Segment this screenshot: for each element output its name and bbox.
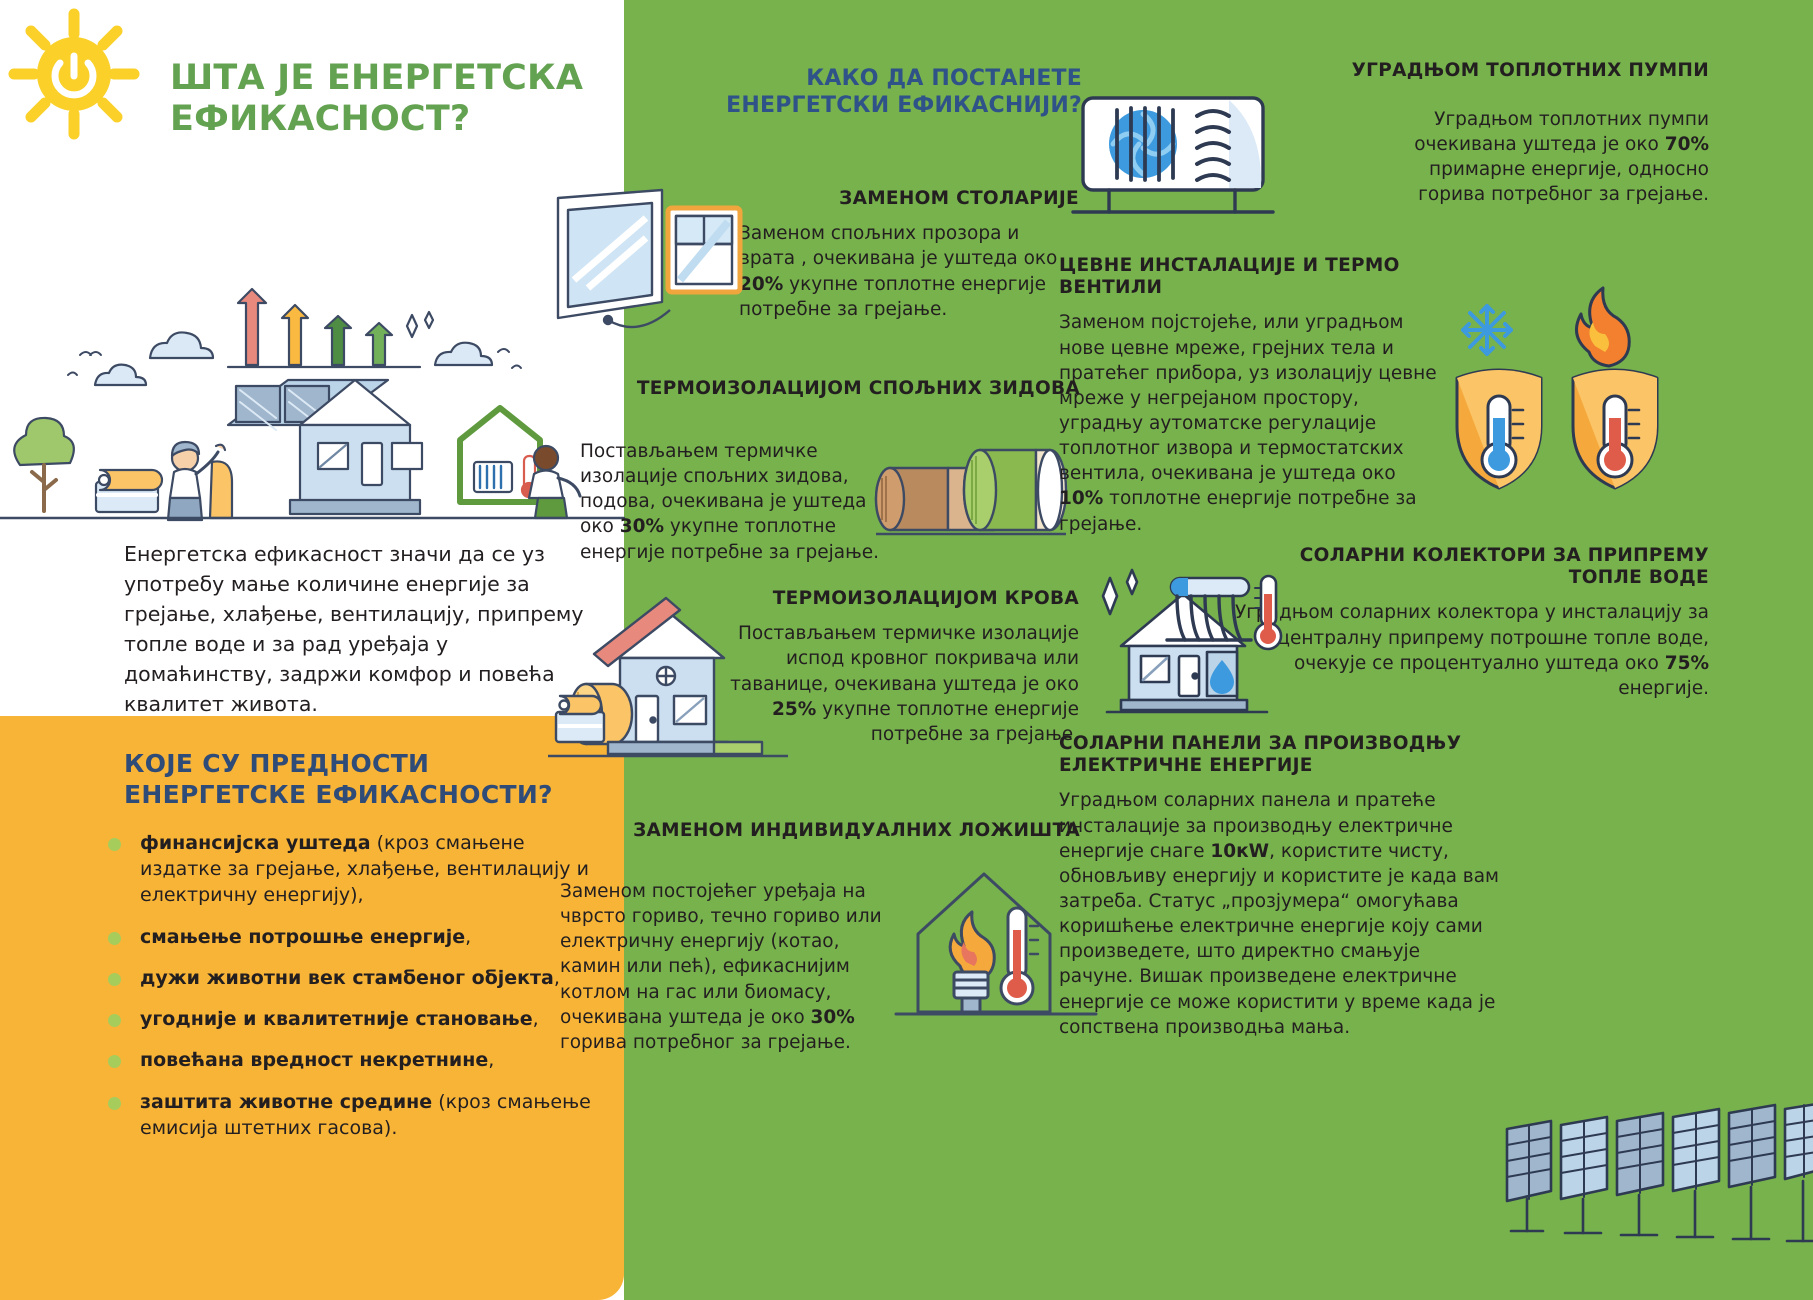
card-heat-pumps-body: Уградњом топлотних пумпи очекивана уштед… (1367, 96, 1709, 208)
card-highlight: 70% (1665, 134, 1709, 155)
card-wall-insulation: ТЕРМОИЗОЛАЦИЈОМ СПОЉНИХ ЗИДОВА (560, 378, 1080, 400)
card-body-post: топлотне енергије потребне за грејање. (1059, 488, 1417, 534)
card-pipe-installations: ЦЕВНЕ ИНСТАЛАЦИЈЕ И ТЕРМО ВЕНТИЛИ Замено… (1059, 255, 1439, 537)
list-item: смањење потрошње енергије, (104, 924, 604, 950)
card-title: УГРАДЊОМ ТОПЛОТНИХ ПУМПИ (1149, 60, 1709, 82)
benefit-label: финансијска уштеда (140, 832, 371, 854)
thermostat-shields-illustration (1439, 300, 1689, 500)
card-body-post: енергије. (1618, 678, 1709, 699)
benefits-panel: КОЈЕ СУ ПРЕДНОСТИ ЕНЕРГЕТСКЕ ЕФИКАСНОСТИ… (0, 716, 624, 1300)
section-heading-how-to: КАКО ДА ПОСТАНЕТЕ ЕНЕРГЕТСКИ ЕФИКАСНИЈИ? (652, 66, 1082, 120)
benefit-label: дужи животни век стамбеног објекта (140, 967, 554, 989)
card-highlight: 75% (1665, 653, 1709, 674)
right-column: УГРАДЊОМ ТОПЛОТНИХ ПУМПИ Уградњом топлот… (1109, 0, 1813, 1300)
benefits-list: финансијска уштеда (кроз смањене издатке… (104, 830, 604, 1156)
card-window-replacement: ЗАМЕНОМ СТОЛАРИЈЕ Заменом спољних прозор… (739, 188, 1079, 322)
card-body: Заменом спољних прозора и врата , очекив… (739, 221, 1079, 322)
card-body-pre: Заменом спољних прозора и врата , очекив… (739, 223, 1057, 269)
card-highlight: 30% (811, 1007, 855, 1028)
card-title: ЗАМЕНОМ ИНДИВИДУАЛНИХ ЛОЖИШТА (560, 820, 1080, 842)
card-body-post: , користите чисту, обновљиву енергију и … (1059, 841, 1499, 1038)
benefit-detail: , (554, 967, 560, 989)
middle-column: КАКО ДА ПОСТАНЕТЕ ЕНЕРГЕТСКИ ЕФИКАСНИЈИ?… (624, 0, 1109, 1300)
sun-power-icon (8, 8, 140, 140)
card-furnace-replacement-body: Заменом постојећег уређаја на чврсто гор… (560, 868, 890, 1055)
card-furnace-replacement: ЗАМЕНОМ ИНДИВИДУАЛНИХ ЛОЖИШТА (560, 820, 1080, 842)
intro-paragraph: Енергетска ефикасност значи да се уз упо… (124, 540, 584, 720)
list-item: дужи животни век стамбеног објекта, (104, 965, 604, 991)
card-body-post: примарне енергије, односно горива потреб… (1418, 159, 1709, 205)
benefits-heading: КОЈЕ СУ ПРЕДНОСТИ ЕНЕРГЕТСКЕ ЕФИКАСНОСТИ… (124, 749, 594, 810)
card-highlight: 10% (1059, 488, 1103, 509)
list-item: повећана вредност некретнине, (104, 1047, 604, 1073)
card-body-post: укупне топлотне енергије потребне за гре… (816, 699, 1079, 745)
solar-panel-array-illustration (1499, 1095, 1813, 1255)
card-body-post: горива потребног за грејање. (560, 1032, 851, 1053)
benefit-label: заштита животне средине (140, 1091, 432, 1113)
benefit-label: повећана вредност некретнине (140, 1049, 488, 1071)
card-solar-panels: СОЛАРНИ ПАНЕЛИ ЗА ПРОИЗВОДЊУ ЕЛЕКТРИЧНЕ … (1059, 733, 1499, 1040)
list-item: финансијска уштеда (кроз смањене издатке… (104, 830, 604, 909)
house-energy-scene-illustration (0, 250, 624, 520)
card-title: ЦЕВНЕ ИНСТАЛАЦИЈЕ И ТЕРМО ВЕНТИЛИ (1059, 255, 1439, 299)
card-title: ТЕРМОИЗОЛАЦИЈОМ СПОЉНИХ ЗИДОВА (560, 378, 1080, 400)
benefit-detail: , (488, 1049, 494, 1071)
card-highlight: 30% (620, 516, 664, 537)
window-replacement-illustration (548, 180, 768, 340)
insulation-rolls-illustration (876, 440, 1066, 550)
roof-insulation-house-illustration (548, 588, 788, 768)
card-body: Уградњом соларних панела и пратеће инста… (1059, 788, 1499, 1040)
card-highlight: 10кW (1210, 841, 1269, 862)
card-heat-pumps: УГРАДЊОМ ТОПЛОТНИХ ПУМПИ (1149, 60, 1709, 82)
benefit-detail: , (465, 926, 471, 948)
heat-pump-unit-illustration (1069, 88, 1309, 228)
card-title: СОЛАРНИ ПАНЕЛИ ЗА ПРОИЗВОДЊУ ЕЛЕКТРИЧНЕ … (1059, 733, 1499, 777)
card-body: Заменом постојећег уређаја на чврсто гор… (560, 879, 890, 1055)
benefit-detail: , (533, 1008, 539, 1030)
card-body-pre: Заменом појстојеће, или уградњом нове це… (1059, 312, 1437, 484)
solar-collector-house-illustration (1067, 548, 1317, 718)
benefit-label: смањење потрошње енергије (140, 926, 465, 948)
benefit-label: угодније и квалитетније становање (140, 1008, 533, 1030)
card-body: Постављањем термичке изолације спољних з… (580, 439, 890, 565)
card-wall-insulation-body: Постављањем термичке изолације спољних з… (580, 428, 890, 565)
card-body: Уградњом топлотних пумпи очекивана уштед… (1367, 107, 1709, 208)
infographic-page: ШТА ЈЕ ЕНЕРГЕТСКА ЕФИКАСНОСТ? (0, 0, 1813, 1300)
page-title: ШТА ЈЕ ЕНЕРГЕТСКА ЕФИКАСНОСТ? (170, 58, 600, 141)
card-body-pre: Заменом постојећег уређаја на чврсто гор… (560, 881, 882, 1028)
card-body-post: укупне топлотне енергије потребне за гре… (739, 274, 1046, 320)
card-body: Заменом појстојеће, или уградњом нове це… (1059, 310, 1439, 536)
list-item: заштита животне средине (кроз смањење ем… (104, 1089, 604, 1141)
card-title: ЗАМЕНОМ СТОЛАРИЈЕ (739, 188, 1079, 210)
list-item: угодније и квалитетније становање, (104, 1006, 604, 1032)
